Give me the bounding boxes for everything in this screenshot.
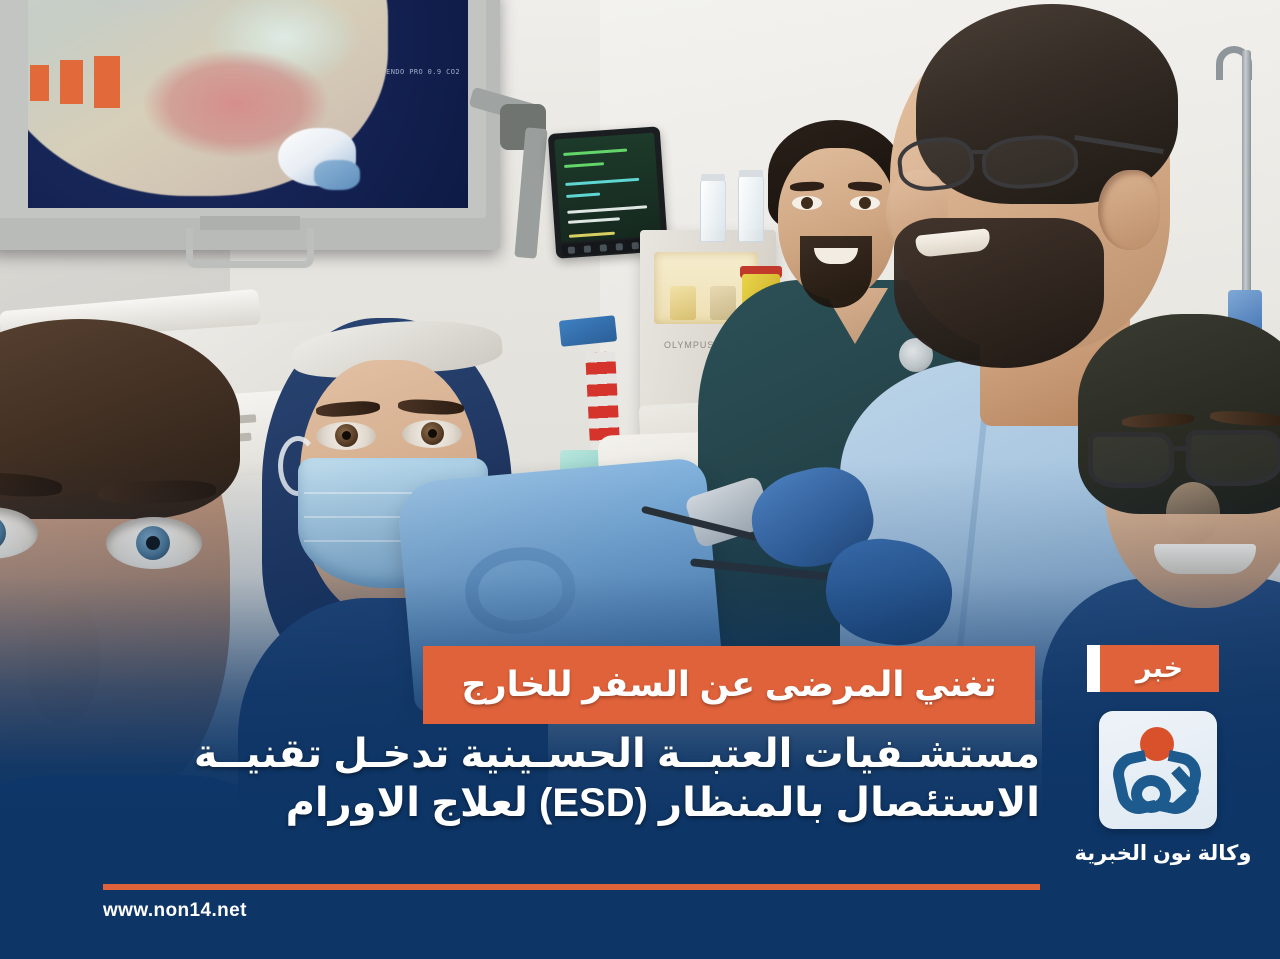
- orange-tick-icon: [60, 60, 83, 104]
- news-badge-label: خبر: [1136, 653, 1183, 684]
- kicker-text: تغني المرضى عن السفر للخارج: [461, 665, 996, 705]
- news-badge: خبر: [1087, 645, 1219, 692]
- orange-tick-icon: [94, 56, 120, 108]
- headline-line-2: الاستئصال بالمنظار (ESD) لعلاج الاورام: [60, 779, 1040, 828]
- news-badge-fill: خبر: [1100, 645, 1219, 692]
- news-badge-bar: [1087, 645, 1100, 692]
- headline-line-1: مستشـفيات العتبــة الحسـينية تدخـل تقنيـ…: [60, 730, 1040, 779]
- website-url[interactable]: www.non14.net: [103, 900, 247, 922]
- headline: مستشـفيات العتبــة الحسـينية تدخـل تقنيـ…: [60, 730, 1040, 828]
- orange-tick-icon: [30, 65, 49, 101]
- kicker-banner: تغني المرضى عن السفر للخارج: [423, 646, 1035, 724]
- news-card: DGT 48 7 ENDO PRO 0.9 CO2: [0, 0, 1280, 959]
- orange-divider: [103, 884, 1040, 890]
- noon-agency-logo-icon: [1099, 711, 1217, 829]
- agency-name: وكالة نون الخبرية: [1063, 841, 1263, 866]
- decorative-ticks: [30, 56, 120, 112]
